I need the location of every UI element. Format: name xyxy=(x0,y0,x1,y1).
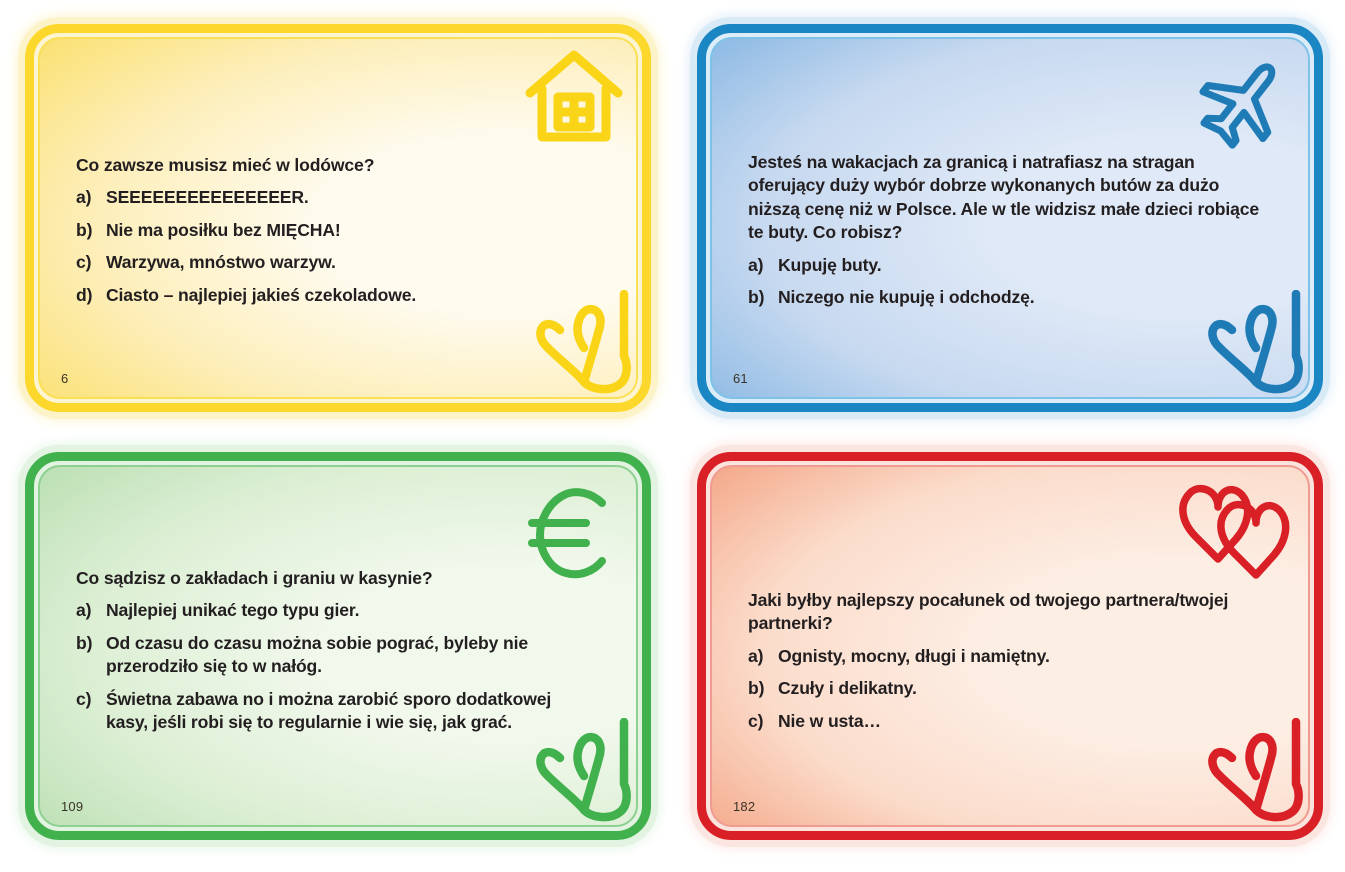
answer-key: c) xyxy=(748,710,778,733)
card-inner-surface: Co sądzisz o zakładach i graniu w kasyni… xyxy=(38,465,638,827)
answer-option[interactable]: d) Ciasto – najlepiej jakieś czekoladowe… xyxy=(76,284,592,307)
heart-stem-icon xyxy=(526,718,638,827)
answer-key: a) xyxy=(748,645,778,668)
card-content: Co zawsze musisz mieć w lodówce? a) SEEE… xyxy=(40,154,636,307)
answer-key: b) xyxy=(748,677,778,700)
answer-text: Od czasu do czasu można sobie pograć, by… xyxy=(106,632,592,679)
card-content: Jesteś na wakacjach za granicą i natrafi… xyxy=(712,151,1308,309)
answer-text: Nie ma posiłku bez MIĘCHA! xyxy=(106,219,592,242)
question-card-yellow[interactable]: Co zawsze musisz mieć w lodówce? a) SEEE… xyxy=(25,24,651,412)
answer-key: b) xyxy=(748,286,778,309)
answer-key: c) xyxy=(76,251,106,274)
card-number: 6 xyxy=(61,371,68,386)
answer-option[interactable]: b) Od czasu do czasu można sobie pograć,… xyxy=(76,632,592,679)
answer-option[interactable]: b) Czuły i delikatny. xyxy=(748,677,1264,700)
house-icon xyxy=(522,47,626,152)
answer-key: a) xyxy=(76,186,106,209)
card-inner-surface: Jaki byłby najlepszy pocałunek od twojeg… xyxy=(710,465,1310,827)
heart-stem-icon xyxy=(1198,718,1310,827)
two-hearts-icon xyxy=(1174,479,1296,584)
card-question: Jesteś na wakacjach za granicą i natrafi… xyxy=(748,151,1264,245)
cards-board: Co zawsze musisz mieć w lodówce? a) SEEE… xyxy=(0,0,1345,872)
answer-text: Czuły i delikatny. xyxy=(778,677,1264,700)
card-content: Jaki byłby najlepszy pocałunek od twojeg… xyxy=(712,589,1308,733)
card-question: Co zawsze musisz mieć w lodówce? xyxy=(76,154,592,177)
question-card-blue[interactable]: Jesteś na wakacjach za granicą i natrafi… xyxy=(697,24,1323,412)
question-card-green[interactable]: Co sądzisz o zakładach i graniu w kasyni… xyxy=(25,452,651,840)
answer-key: b) xyxy=(76,632,106,679)
answer-text: Ognisty, mocny, długi i namiętny. xyxy=(778,645,1264,668)
card-number: 182 xyxy=(733,799,755,814)
answer-list: a) Kupuję buty. b) Niczego nie kupuję i … xyxy=(748,254,1264,310)
answer-option[interactable]: b) Niczego nie kupuję i odchodzę. xyxy=(748,286,1264,309)
answer-text: Świetna zabawa no i można zarobić sporo … xyxy=(106,688,592,735)
answer-text: Kupuję buty. xyxy=(778,254,1264,277)
answer-key: d) xyxy=(76,284,106,307)
card-number: 61 xyxy=(733,371,748,386)
answer-list: a) SEEEEEEEEEEEEEEER. b) Nie ma posiłku … xyxy=(76,186,592,307)
answer-option[interactable]: a) Ognisty, mocny, długi i namiętny. xyxy=(748,645,1264,668)
answer-key: b) xyxy=(76,219,106,242)
card-question: Jaki byłby najlepszy pocałunek od twojeg… xyxy=(748,589,1264,636)
answer-text: Nie w usta… xyxy=(778,710,1264,733)
answer-option[interactable]: c) Warzywa, mnóstwo warzyw. xyxy=(76,251,592,274)
answer-text: Warzywa, mnóstwo warzyw. xyxy=(106,251,592,274)
card-inner-surface: Jesteś na wakacjach za granicą i natrafi… xyxy=(710,37,1310,399)
answer-list: a) Najlepiej unikać tego typu gier. b) O… xyxy=(76,599,592,734)
answer-option[interactable]: a) Najlepiej unikać tego typu gier. xyxy=(76,599,592,622)
answer-key: a) xyxy=(748,254,778,277)
card-inner-surface: Co zawsze musisz mieć w lodówce? a) SEEE… xyxy=(38,37,638,399)
answer-text: Niczego nie kupuję i odchodzę. xyxy=(778,286,1264,309)
answer-option[interactable]: b) Nie ma posiłku bez MIĘCHA! xyxy=(76,219,592,242)
answer-option[interactable]: a) Kupuję buty. xyxy=(748,254,1264,277)
card-question: Co sądzisz o zakładach i graniu w kasyni… xyxy=(76,567,592,590)
card-content: Co sądzisz o zakładach i graniu w kasyni… xyxy=(40,567,636,734)
answer-text: Ciasto – najlepiej jakieś czekoladowe. xyxy=(106,284,592,307)
card-number: 109 xyxy=(61,799,83,814)
answer-option[interactable]: c) Świetna zabawa no i można zarobić spo… xyxy=(76,688,592,735)
airplane-icon xyxy=(1194,51,1294,156)
answer-option[interactable]: c) Nie w usta… xyxy=(748,710,1264,733)
answer-option[interactable]: a) SEEEEEEEEEEEEEEER. xyxy=(76,186,592,209)
answer-text: Najlepiej unikać tego typu gier. xyxy=(106,599,592,622)
question-card-red[interactable]: Jaki byłby najlepszy pocałunek od twojeg… xyxy=(697,452,1323,840)
answer-key: c) xyxy=(76,688,106,735)
answer-key: a) xyxy=(76,599,106,622)
answer-text: SEEEEEEEEEEEEEEER. xyxy=(106,186,592,209)
answer-list: a) Ognisty, mocny, długi i namiętny. b) … xyxy=(748,645,1264,733)
